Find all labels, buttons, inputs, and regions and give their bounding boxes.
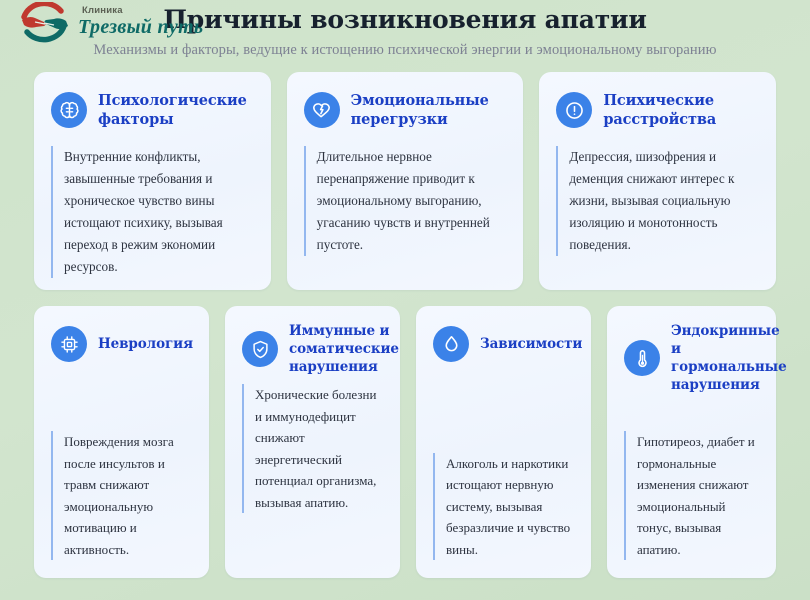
droplet-icon	[433, 326, 469, 362]
card-header: Психические расстройства	[556, 88, 759, 132]
brand-logo[interactable]: Клиника Трезвый путь	[14, 2, 214, 50]
microchip-icon	[51, 326, 87, 362]
card-mental-disorders[interactable]: Психические расстройства Депрессия, шизо…	[539, 72, 776, 290]
thermometer-icon	[624, 340, 660, 376]
card-text: Депрессия, шизофрения и деменция снижают…	[556, 146, 759, 256]
card-text: Хронические болезни и иммунодефицит сниж…	[242, 384, 383, 513]
card-header: Неврология	[51, 322, 192, 366]
card-title: Иммунные и соматические нарушения	[289, 322, 399, 376]
card-text: Внутренние конфликты, завышенные требова…	[51, 146, 254, 278]
card-title: Зависимости	[480, 335, 582, 353]
card-title: Эмоциональные перегрузки	[351, 91, 507, 129]
brand-name: Трезвый путь	[78, 16, 203, 39]
card-header: Эмоциональные перегрузки	[304, 88, 507, 132]
card-addictions[interactable]: Зависимости Алкоголь и наркотики истощаю…	[416, 306, 591, 578]
card-psychological-factors[interactable]: Психологические факторы Внутренние конфл…	[34, 72, 271, 290]
two-hands-circle-logo-icon	[14, 2, 76, 46]
shield-check-icon	[242, 331, 278, 367]
page-header: Клиника Трезвый путь Причины возникновен…	[0, 0, 810, 72]
card-neurology[interactable]: Неврология Повреждения мозга после инсул…	[34, 306, 209, 578]
card-immune-somatic-disorders[interactable]: Иммунные и соматические нарушения Хронич…	[225, 306, 400, 578]
card-title: Эндокринные и гормональные нарушения	[671, 322, 787, 394]
card-text: Алкоголь и наркотики истощают нервную си…	[433, 453, 574, 561]
card-header: Иммунные и соматические нарушения	[242, 322, 383, 376]
card-text: Длительное нервное перенапряжение привод…	[304, 146, 507, 256]
broken-heart-icon	[304, 92, 340, 128]
cards-grid: Психологические факторы Внутренние конфл…	[0, 72, 810, 578]
card-text: Повреждения мозга после инсультов и трав…	[51, 431, 192, 560]
card-header: Психологические факторы	[51, 88, 254, 132]
cards-row-2: Неврология Повреждения мозга после инсул…	[34, 306, 776, 578]
brain-icon	[51, 92, 87, 128]
card-header: Эндокринные и гормональные нарушения	[624, 322, 759, 394]
card-title: Психические расстройства	[603, 91, 759, 129]
card-text: Гипотиреоз, диабет и гормональные измене…	[624, 431, 759, 560]
card-title: Неврология	[98, 335, 193, 353]
brand-kicker: Клиника	[78, 5, 203, 16]
cards-row-1: Психологические факторы Внутренние конфл…	[34, 72, 776, 290]
card-emotional-overload[interactable]: Эмоциональные перегрузки Длительное нерв…	[287, 72, 524, 290]
card-title: Психологические факторы	[98, 91, 254, 129]
exclamation-circle-icon	[556, 92, 592, 128]
card-header: Зависимости	[433, 322, 574, 366]
card-endocrine-hormonal-disorders[interactable]: Эндокринные и гормональные нарушения Гип…	[607, 306, 776, 578]
